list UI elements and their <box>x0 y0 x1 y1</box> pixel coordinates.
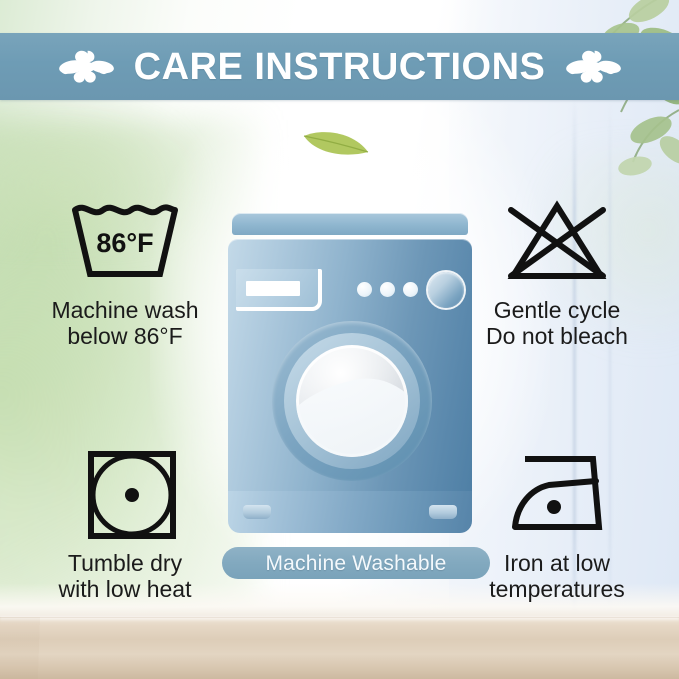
iron-icon <box>452 445 662 545</box>
crossed-triangle-icon <box>452 192 662 292</box>
machine-washable-label: Machine Washable <box>265 553 446 574</box>
machine-washable-badge: Machine Washable <box>222 547 490 579</box>
wooden-tabletop <box>0 617 679 679</box>
washer-control-button <box>403 282 418 297</box>
care-symbol-machine-wash: 86°F Machine wash below 86°F <box>20 192 230 350</box>
washing-machine-illustration <box>228 213 472 531</box>
washer-foot <box>243 505 271 519</box>
wash-tub-icon: 86°F <box>20 192 230 292</box>
header-banner: CARE INSTRUCTIONS <box>0 33 679 100</box>
washer-control-knob <box>428 272 464 308</box>
care-caption: Machine wash below 86°F <box>20 298 230 350</box>
care-caption: Tumble dry with low heat <box>20 551 230 603</box>
fleur-de-lis-icon <box>58 44 114 90</box>
care-symbol-iron-low: Iron at low temperatures <box>452 445 662 603</box>
page-title: CARE INSTRUCTIONS <box>128 48 552 86</box>
care-instructions-infographic: CARE INSTRUCTIONS 86°F Machine wash belo… <box>0 0 679 679</box>
washer-control-button <box>357 282 372 297</box>
washer-door-outer-ring <box>272 321 432 481</box>
washer-control-button <box>380 282 395 297</box>
table-wood-grain <box>0 617 679 679</box>
washer-door-swirl <box>296 367 408 457</box>
washer-foot <box>429 505 457 519</box>
care-caption: Gentle cycle Do not bleach <box>452 298 662 350</box>
care-symbol-tumble-dry-low: Tumble dry with low heat <box>20 445 230 603</box>
fleur-de-lis-icon <box>565 44 621 90</box>
detergent-drawer-slot <box>246 281 300 296</box>
washer-body <box>228 239 472 507</box>
washer-door-inner-ring <box>284 333 420 469</box>
washer-top-strip <box>232 213 468 235</box>
detergent-drawer <box>236 269 322 311</box>
wash-temperature-label: 86°F <box>96 228 153 258</box>
care-symbol-gentle-cycle-no-bleach: Gentle cycle Do not bleach <box>452 192 662 350</box>
floating-leaf-icon <box>300 126 372 158</box>
washer-door-glass <box>296 345 408 457</box>
tumble-dry-icon <box>20 445 230 545</box>
